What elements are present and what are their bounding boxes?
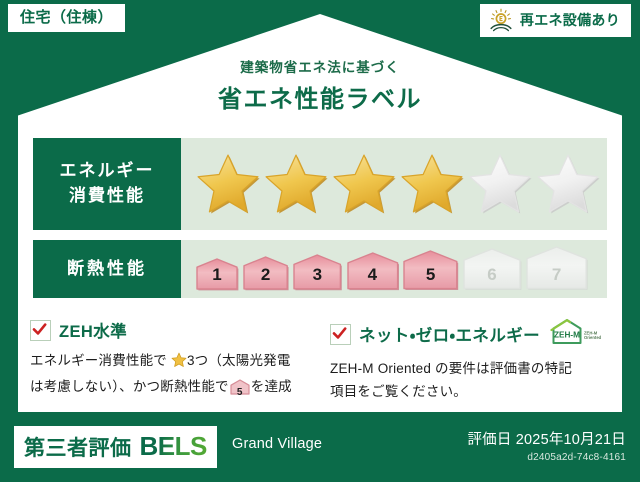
zeh-text-part3: を達成 (251, 379, 292, 394)
dwelling-type-label: 住宅（住棟） (20, 9, 113, 26)
insulation-grade-number: 5 (402, 265, 459, 285)
inline-star-icon (167, 356, 187, 371)
insulation-grade-number: 7 (525, 265, 588, 285)
insulation-grade-number: 2 (242, 265, 289, 285)
insulation-label-text: 断熱性能 (67, 257, 147, 282)
svg-text:Oriented: Oriented (584, 335, 602, 340)
insulation-grade-badge: 3 (292, 253, 342, 291)
inline-grade-badge: 5 (230, 379, 250, 402)
footer-bar: 第三者評価 BELS Grand Village 評価日 2025年10月21日… (0, 414, 640, 482)
nzeb-heading: ネット・ゼロ・エネルギー ZEH-M ZEH-M Oriented (330, 318, 616, 350)
third-party-label: 第三者評価 (24, 432, 132, 462)
star-filled-icon (195, 152, 261, 216)
star-filled-icon (331, 152, 397, 216)
evaluation-id: d2405a2d-74c8-4161 (467, 452, 626, 463)
title-subtitle: 建築物省エネ法に基づく (0, 56, 640, 76)
insulation-grade-badge: 4 (346, 251, 400, 291)
star-filled-icon (263, 152, 329, 216)
renewable-energy-tag: 再エネ設備あり (480, 4, 631, 37)
energy-performance-label: エネルギー 消費性能 (33, 138, 181, 230)
star-rating (195, 152, 601, 216)
energy-performance-value (181, 138, 607, 230)
nzeb-text-line1: ZEH-M Oriented の要件は評価書の特記 (330, 361, 572, 376)
star-empty-icon (535, 152, 601, 216)
renewable-energy-label: 再エネ設備あり (520, 10, 620, 30)
energy-label-root: 住宅（住棟） 再エネ設備あり 建築 (0, 0, 640, 482)
building-name: Grand Village (232, 436, 322, 452)
title-block: 建築物省エネ法に基づく 省エネ性能ラベル (0, 56, 640, 114)
energy-performance-row: エネルギー 消費性能 (33, 138, 607, 230)
insulation-grade-number: 1 (195, 265, 239, 285)
energy-label-line1: エネルギー (60, 159, 155, 184)
zeh-description: エネルギー消費性能で 3つ（太陽光発電 は考慮しない）、かつ断熱性能で 5を達成 (30, 349, 316, 402)
insulation-grade-number: 6 (462, 265, 522, 285)
zeh-text-part2: は考慮しない）、かつ断熱性能で (30, 379, 229, 394)
zeh-column: ZEH水準 エネルギー消費性能で 3つ（太陽光発電 は考慮しない）、かつ断熱性能… (30, 318, 316, 403)
zeh-text-part1: エネルギー消費性能で (30, 353, 167, 368)
nzeb-checkbox (330, 324, 351, 345)
nzeb-column: ネット・ゼロ・エネルギー ZEH-M ZEH-M Oriented ZEH-M … (330, 318, 616, 403)
insulation-performance-row: 断熱性能 1234567 (33, 240, 607, 298)
zeh-heading: ZEH水準 (30, 318, 316, 342)
zeh-checkbox (30, 320, 51, 341)
evaluation-date: 評価日 2025年10月21日 (467, 428, 626, 449)
star-filled-icon (399, 152, 465, 216)
bels-label: BELS (140, 431, 207, 462)
info-columns: ZEH水準 エネルギー消費性能で 3つ（太陽光発電 は考慮しない）、かつ断熱性能… (30, 318, 616, 403)
insulation-grade-number: 4 (346, 265, 400, 285)
insulation-grade-scale: 1234567 (195, 245, 588, 292)
nzeb-description: ZEH-M Oriented の要件は評価書の特記 項目をご覧ください。 (330, 357, 616, 403)
nzeb-text-line2: 項目をご覧ください。 (330, 384, 467, 399)
star-empty-icon (467, 152, 533, 216)
insulation-grade-badge: 7 (525, 245, 588, 290)
zeh-m-logo-icon: ZEH-M ZEH-M Oriented (548, 318, 602, 350)
svg-text:ZEH-M: ZEH-M (554, 330, 580, 339)
evaluation-info: 評価日 2025年10月21日 d2405a2d-74c8-4161 (467, 428, 626, 463)
insulation-performance-value: 1234567 (181, 240, 607, 298)
insulation-grade-badge: 2 (242, 255, 289, 291)
insulation-performance-label: 断熱性能 (33, 240, 181, 298)
sun-renewable-icon (488, 8, 514, 32)
inline-grade-number: 5 (230, 384, 250, 401)
zeh-text-starcount: 3つ（太陽光発電 (187, 353, 291, 368)
bels-badge: 第三者評価 BELS (14, 426, 217, 468)
dwelling-type-tag: 住宅（住棟） (8, 4, 125, 32)
nzeb-title: ネット・ゼロ・エネルギー (359, 322, 540, 346)
title-main: 省エネ性能ラベル (0, 79, 640, 114)
energy-label-line2: 消費性能 (69, 184, 145, 209)
insulation-grade-badge: 1 (195, 257, 239, 291)
insulation-grade-number: 3 (292, 265, 342, 285)
insulation-grade-badge: 5 (402, 249, 459, 291)
insulation-grade-badge: 6 (462, 247, 522, 291)
zeh-title: ZEH水準 (59, 318, 127, 342)
